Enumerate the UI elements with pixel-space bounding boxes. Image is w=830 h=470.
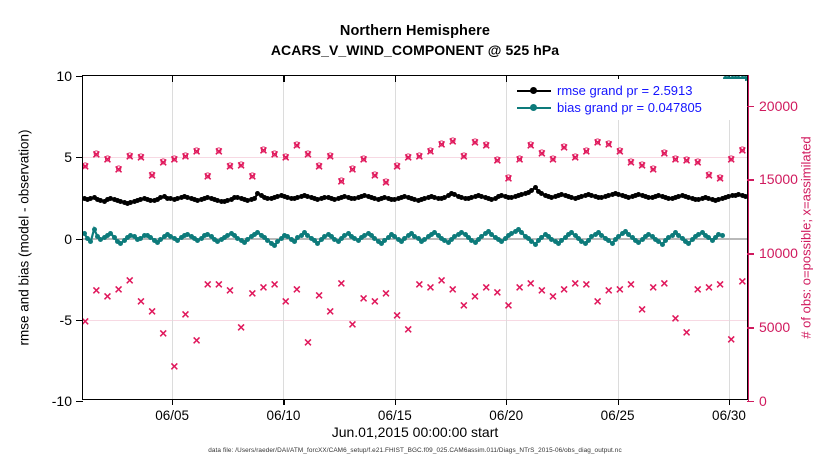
obs-assimilated-marker: × <box>438 137 446 151</box>
x-axis-tick-label: 06/25 <box>601 408 635 423</box>
y-axis-left-tick <box>76 239 83 240</box>
obs-assimilated-marker: × <box>638 158 646 172</box>
y-axis-right-title-text: # of obs: o=possible; x=assimilated <box>799 136 814 338</box>
y-axis-left-tick-label: -10 <box>52 393 72 409</box>
obs-assimilated-marker: × <box>415 277 423 291</box>
obs-assimilated-marker: × <box>471 135 479 149</box>
x-axis-tick-label: 06/20 <box>489 408 523 423</box>
obs-assimilated-marker: × <box>393 159 401 173</box>
obs-assimilated-marker: × <box>326 304 334 318</box>
obs-assimilated-marker: × <box>181 307 189 321</box>
obs-assimilated-marker: × <box>248 286 256 300</box>
obs-assimilated-marker: × <box>348 317 356 331</box>
data-point <box>92 227 97 232</box>
obs-assimilated-marker: × <box>204 169 212 183</box>
obs-assimilated-marker: × <box>315 288 323 302</box>
obs-assimilated-marker: × <box>337 174 345 188</box>
chart-title-block: Northern Hemisphere ACARS_V_WIND_COMPONE… <box>0 22 830 60</box>
obs-assimilated-marker: × <box>449 282 457 296</box>
obs-assimilated-marker: × <box>315 159 323 173</box>
legend-item-rmse[interactable]: rmse grand pr = 2.5913 <box>517 82 741 99</box>
obs-assimilated-marker: × <box>582 277 590 291</box>
obs-assimilated-marker: × <box>92 283 100 297</box>
obs-assimilated-marker: × <box>727 152 735 166</box>
obs-assimilated-marker: × <box>148 168 156 182</box>
obs-assimilated-marker: × <box>504 171 512 185</box>
obs-assimilated-marker: × <box>549 152 557 166</box>
obs-assimilated-marker: × <box>181 149 189 163</box>
obs-assimilated-marker: × <box>460 149 468 163</box>
obs-assimilated-marker: × <box>683 153 691 167</box>
obs-assimilated-marker: × <box>627 155 635 169</box>
obs-assimilated-marker: × <box>571 276 579 290</box>
obs-assimilated-marker: × <box>170 359 178 373</box>
y-axis-left-title-text: rmse and bias (model - observation) <box>17 129 32 345</box>
obs-assimilated-marker: × <box>237 158 245 172</box>
obs-assimilated-marker: × <box>671 311 679 325</box>
obs-assimilated-marker: × <box>694 155 702 169</box>
obs-assimilated-marker: × <box>237 320 245 334</box>
obs-assimilated-marker: × <box>593 135 601 149</box>
obs-assimilated-marker: × <box>515 280 523 294</box>
obs-assimilated-marker: × <box>83 159 89 173</box>
obs-assimilated-marker: × <box>126 273 134 287</box>
x-axis-tick-label: 06/15 <box>378 408 412 423</box>
obs-assimilated-marker: × <box>382 175 390 189</box>
y-axis-right-tick-label: 0 <box>759 393 767 409</box>
obs-assimilated-marker: × <box>738 143 746 157</box>
obs-assimilated-marker: × <box>504 298 512 312</box>
x-axis-tick <box>729 399 730 405</box>
obs-assimilated-marker: × <box>371 168 379 182</box>
obs-assimilated-marker: × <box>282 150 290 164</box>
obs-assimilated-marker: × <box>549 289 557 303</box>
chart-legend[interactable]: rmse grand pr = 2.5913 bias grand pr = 0… <box>513 79 745 120</box>
obs-assimilated-marker: × <box>616 144 624 158</box>
y-axis-right-tick <box>747 401 754 402</box>
x-axis-title: Jun.01,2015 00:00:00 start <box>82 424 748 440</box>
obs-assimilated-marker: × <box>716 277 724 291</box>
obs-assimilated-marker: × <box>727 332 735 346</box>
page-title: Northern Hemisphere <box>0 22 830 41</box>
obs-assimilated-marker: × <box>449 134 457 148</box>
obs-assimilated-marker: × <box>627 277 635 291</box>
obs-assimilated-marker: × <box>103 152 111 166</box>
y-axis-left-tick-label: 0 <box>64 231 72 247</box>
obs-assimilated-marker: × <box>248 169 256 183</box>
legend-marker-bias <box>517 101 551 114</box>
y-axis-left-tick-label: -5 <box>60 312 72 328</box>
x-axis-tick-label: 06/10 <box>267 408 301 423</box>
obs-assimilated-marker: × <box>471 289 479 303</box>
obs-assimilated-marker: × <box>426 144 434 158</box>
obs-assimilated-marker: × <box>126 149 134 163</box>
obs-assimilated-marker: × <box>304 335 312 349</box>
obs-assimilated-marker: × <box>360 152 368 166</box>
obs-assimilated-marker: × <box>103 289 111 303</box>
obs-assimilated-marker: × <box>694 282 702 296</box>
obs-assimilated-marker: × <box>482 280 490 294</box>
obs-assimilated-marker: × <box>326 149 334 163</box>
y-axis-left-tick <box>76 76 83 77</box>
obs-assimilated-marker: × <box>259 280 267 294</box>
obs-assimilated-marker: × <box>159 155 167 169</box>
right-axis-spine <box>748 75 750 401</box>
legend-item-bias[interactable]: bias grand pr = 0.047805 <box>517 99 741 116</box>
obs-assimilated-marker: × <box>393 308 401 322</box>
y-axis-right-tick-label: 10000 <box>759 245 798 261</box>
obs-assimilated-marker: × <box>304 147 312 161</box>
obs-assimilated-marker: × <box>538 283 546 297</box>
obs-assimilated-marker: × <box>226 283 234 297</box>
x-axis-tick <box>618 399 619 405</box>
obs-assimilated-marker: × <box>438 273 446 287</box>
obs-assimilated-marker: × <box>560 282 568 296</box>
obs-assimilated-marker: × <box>83 314 89 328</box>
x-axis-tick-label: 06/30 <box>712 408 746 423</box>
obs-assimilated-marker: × <box>705 280 713 294</box>
obs-assimilated-marker: × <box>170 152 178 166</box>
obs-assimilated-marker: × <box>527 276 535 290</box>
y-axis-left-tick <box>76 157 83 158</box>
legend-marker-rmse <box>517 84 551 97</box>
x-axis-tick <box>506 399 507 405</box>
obs-assimilated-marker: × <box>215 144 223 158</box>
data-point <box>743 194 747 199</box>
y-axis-left-tick <box>76 401 83 402</box>
obs-assimilated-marker: × <box>204 277 212 291</box>
obs-assimilated-marker: × <box>115 162 123 176</box>
x-axis-tick <box>172 399 173 405</box>
obs-assimilated-marker: × <box>293 282 301 296</box>
obs-assimilated-marker: × <box>360 291 368 305</box>
obs-assimilated-marker: × <box>527 138 535 152</box>
obs-assimilated-marker: × <box>482 138 490 152</box>
page-subtitle: ACARS_V_WIND_COMPONENT @ 525 hPa <box>0 41 830 60</box>
obs-assimilated-marker: × <box>683 325 691 339</box>
data-file-caption: data file: /Users/raeder/DAI/ATM_forcXX/… <box>0 447 830 454</box>
obs-assimilated-marker: × <box>593 294 601 308</box>
obs-assimilated-marker: × <box>616 282 624 296</box>
y-axis-left-tick <box>76 320 83 321</box>
y-axis-left-tick-label: 5 <box>64 149 72 165</box>
plot-area: -10-505100500010000150002000006/0506/100… <box>82 75 748 400</box>
y-axis-right-tick-label: 5000 <box>759 319 790 335</box>
obs-assimilated-marker: × <box>159 326 167 340</box>
x-axis-tick <box>283 399 284 405</box>
obs-assimilated-marker: × <box>282 294 290 308</box>
obs-assimilated-marker: × <box>226 159 234 173</box>
obs-assimilated-marker: × <box>738 274 746 288</box>
obs-assimilated-marker: × <box>705 168 713 182</box>
obs-assimilated-marker: × <box>493 285 501 299</box>
obs-assimilated-marker: × <box>348 162 356 176</box>
x-axis-tick-label: 06/05 <box>155 408 189 423</box>
obs-assimilated-marker: × <box>193 333 201 347</box>
y-axis-right-tick-label: 15000 <box>759 171 798 187</box>
obs-assimilated-marker: × <box>115 282 123 296</box>
obs-assimilated-marker: × <box>605 137 613 151</box>
obs-assimilated-marker: × <box>148 304 156 318</box>
y-axis-right-title: # of obs: o=possible; x=assimilated <box>796 75 816 400</box>
y-axis-left-title: rmse and bias (model - observation) <box>14 75 34 400</box>
obs-assimilated-marker: × <box>493 153 501 167</box>
obs-assimilated-marker: × <box>415 149 423 163</box>
obs-assimilated-marker: × <box>460 298 468 312</box>
obs-assimilated-marker: × <box>660 146 668 160</box>
chart-page: Northern Hemisphere ACARS_V_WIND_COMPONE… <box>0 0 830 470</box>
obs-assimilated-marker: × <box>404 322 412 336</box>
obs-assimilated-marker: × <box>270 277 278 291</box>
obs-assimilated-marker: × <box>538 146 546 160</box>
obs-assimilated-marker: × <box>515 152 523 166</box>
obs-assimilated-marker: × <box>671 152 679 166</box>
obs-assimilated-marker: × <box>649 280 657 294</box>
obs-assimilated-marker: × <box>371 294 379 308</box>
obs-assimilated-marker: × <box>137 294 145 308</box>
obs-assimilated-marker: × <box>293 138 301 152</box>
y-axis-right-tick-label: 20000 <box>759 98 798 114</box>
y-axis-left-tick-label: 10 <box>56 68 72 84</box>
legend-label-bias: bias grand pr = 0.047805 <box>557 100 702 115</box>
obs-assimilated-marker: × <box>582 144 590 158</box>
obs-assimilated-marker: × <box>137 150 145 164</box>
obs-assimilated-marker: × <box>571 150 579 164</box>
obs-assimilated-marker: × <box>404 150 412 164</box>
data-point <box>252 196 257 201</box>
legend-label-rmse: rmse grand pr = 2.5913 <box>557 83 693 98</box>
x-axis-tick <box>395 399 396 405</box>
obs-assimilated-marker: × <box>426 280 434 294</box>
series-layer: oooooooooooooooooooooooooooooooooooooooo… <box>83 76 747 399</box>
obs-assimilated-marker: × <box>270 147 278 161</box>
obs-assimilated-marker: × <box>638 302 646 316</box>
obs-assimilated-marker: × <box>259 143 267 157</box>
obs-assimilated-marker: × <box>215 277 223 291</box>
obs-assimilated-marker: × <box>337 276 345 290</box>
obs-assimilated-marker: × <box>560 140 568 154</box>
obs-assimilated-marker: × <box>716 171 724 185</box>
obs-assimilated-marker: × <box>660 276 668 290</box>
obs-assimilated-marker: × <box>649 162 657 176</box>
obs-assimilated-marker: × <box>382 286 390 300</box>
obs-assimilated-marker: × <box>605 283 613 297</box>
obs-assimilated-marker: × <box>92 147 100 161</box>
obs-assimilated-marker: × <box>193 144 201 158</box>
